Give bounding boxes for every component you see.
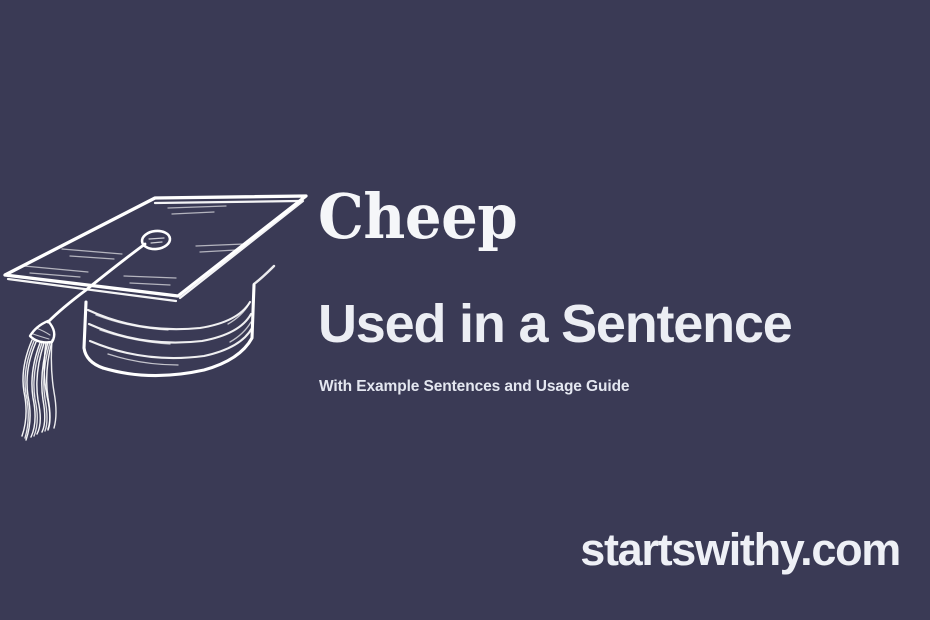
site-brand: startswithy.com [580,526,900,574]
word-usage-banner: Cheep Used in a Sentence With Example Se… [0,0,930,620]
tagline: With Example Sentences and Usage Guide [319,379,629,395]
headline-group: Cheep Used in a Sentence With Example Se… [318,186,918,248]
phrase-title: Used in a Sentence [318,297,792,351]
graduation-cap-icon [0,178,312,450]
word-title: Cheep [318,186,876,248]
